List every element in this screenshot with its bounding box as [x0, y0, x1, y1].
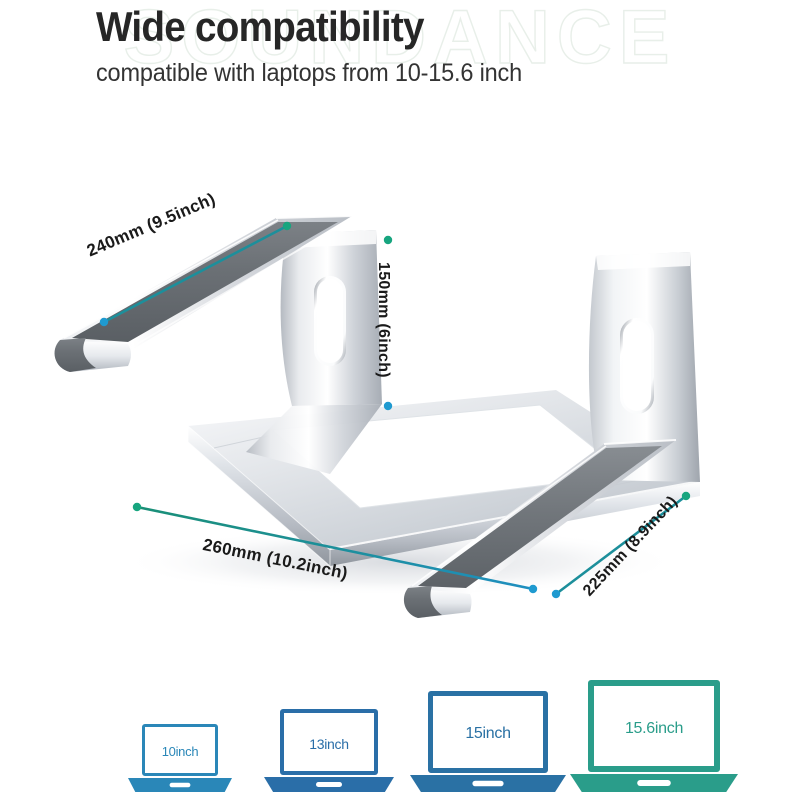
laptop-size-row: 10inch13inch15inch15.6inch: [0, 672, 800, 792]
laptop-screen: 15.6inch: [588, 680, 720, 772]
page-title: Wide compatibility: [96, 6, 694, 49]
laptop-screen: 15inch: [428, 691, 548, 773]
laptop-icon-15-6inch: 15.6inch: [570, 680, 738, 792]
laptop-size-label: 15inch: [433, 725, 543, 743]
page-subtitle: compatible with laptops from 10-15.6 inc…: [96, 59, 707, 88]
laptop-icon-15inch: 15inch: [410, 691, 566, 792]
product-illustration-stage: [0, 190, 800, 620]
laptop-base: [264, 777, 394, 792]
laptop-screen: 10inch: [142, 724, 218, 776]
laptop-trackpad: [316, 782, 342, 787]
laptop-trackpad: [637, 780, 671, 786]
laptop-stand-illustration: [0, 190, 800, 620]
product-infographic: SOUNDANCE Wide compatibility compatible …: [0, 0, 800, 800]
dimension-label-150mm: 150mm (6inch): [374, 262, 392, 378]
laptop-size-label: 13inch: [284, 736, 374, 752]
laptop-size-label: 10inch: [145, 744, 215, 759]
laptop-base: [128, 778, 232, 792]
laptop-base: [410, 775, 566, 792]
laptop-base: [570, 774, 738, 792]
laptop-screen: 13inch: [280, 709, 378, 775]
laptop-size-label: 15.6inch: [594, 720, 714, 738]
laptop-icon-10inch: 10inch: [128, 724, 232, 792]
laptop-icon-13inch: 13inch: [264, 709, 394, 792]
laptop-trackpad: [170, 783, 191, 788]
laptop-trackpad: [472, 781, 503, 787]
header-block: Wide compatibility compatible with lapto…: [96, 6, 746, 88]
